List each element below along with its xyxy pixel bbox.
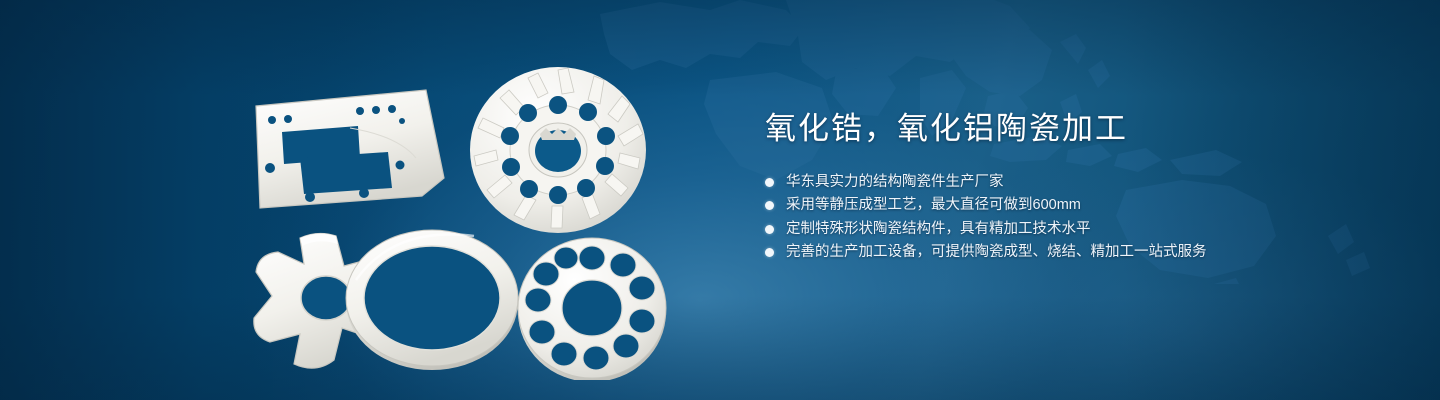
- ceramic-machined-plate: [256, 90, 444, 208]
- product-photo-cluster: [230, 40, 710, 380]
- bullet-dot-icon: [765, 248, 774, 257]
- banner-copy: 氧化锆，氧化铝陶瓷加工 华东具实力的结构陶瓷件生产厂家 采用等静压成型工艺，最大…: [765, 110, 1365, 269]
- list-item-label: 定制特殊形状陶瓷结构件，具有精加工技术水平: [786, 222, 1091, 237]
- ceramic-perforated-disc: [518, 238, 666, 380]
- list-item-label: 华东具实力的结构陶瓷件生产厂家: [786, 175, 1004, 190]
- list-item: 定制特殊形状陶瓷结构件，具有精加工技术水平: [765, 222, 1365, 237]
- ceramic-impeller-disc: [470, 67, 646, 233]
- ceramic-ring: [346, 230, 518, 370]
- list-item-label: 采用等静压成型工艺，最大直径可做到600mm: [786, 198, 1081, 213]
- list-item-label: 完善的生产加工设备，可提供陶瓷成型、烧结、精加工一站式服务: [786, 245, 1207, 260]
- page-title: 氧化锆，氧化铝陶瓷加工: [765, 110, 1365, 149]
- feature-list: 华东具实力的结构陶瓷件生产厂家 采用等静压成型工艺，最大直径可做到600mm 定…: [765, 175, 1365, 260]
- list-item: 采用等静压成型工艺，最大直径可做到600mm: [765, 198, 1365, 213]
- bullet-dot-icon: [765, 201, 774, 210]
- bullet-dot-icon: [765, 225, 774, 234]
- bullet-dot-icon: [765, 178, 774, 187]
- list-item: 完善的生产加工设备，可提供陶瓷成型、烧结、精加工一站式服务: [765, 245, 1365, 260]
- list-item: 华东具实力的结构陶瓷件生产厂家: [765, 175, 1365, 190]
- hero-banner: 氧化锆，氧化铝陶瓷加工 华东具实力的结构陶瓷件生产厂家 采用等静压成型工艺，最大…: [0, 0, 1440, 400]
